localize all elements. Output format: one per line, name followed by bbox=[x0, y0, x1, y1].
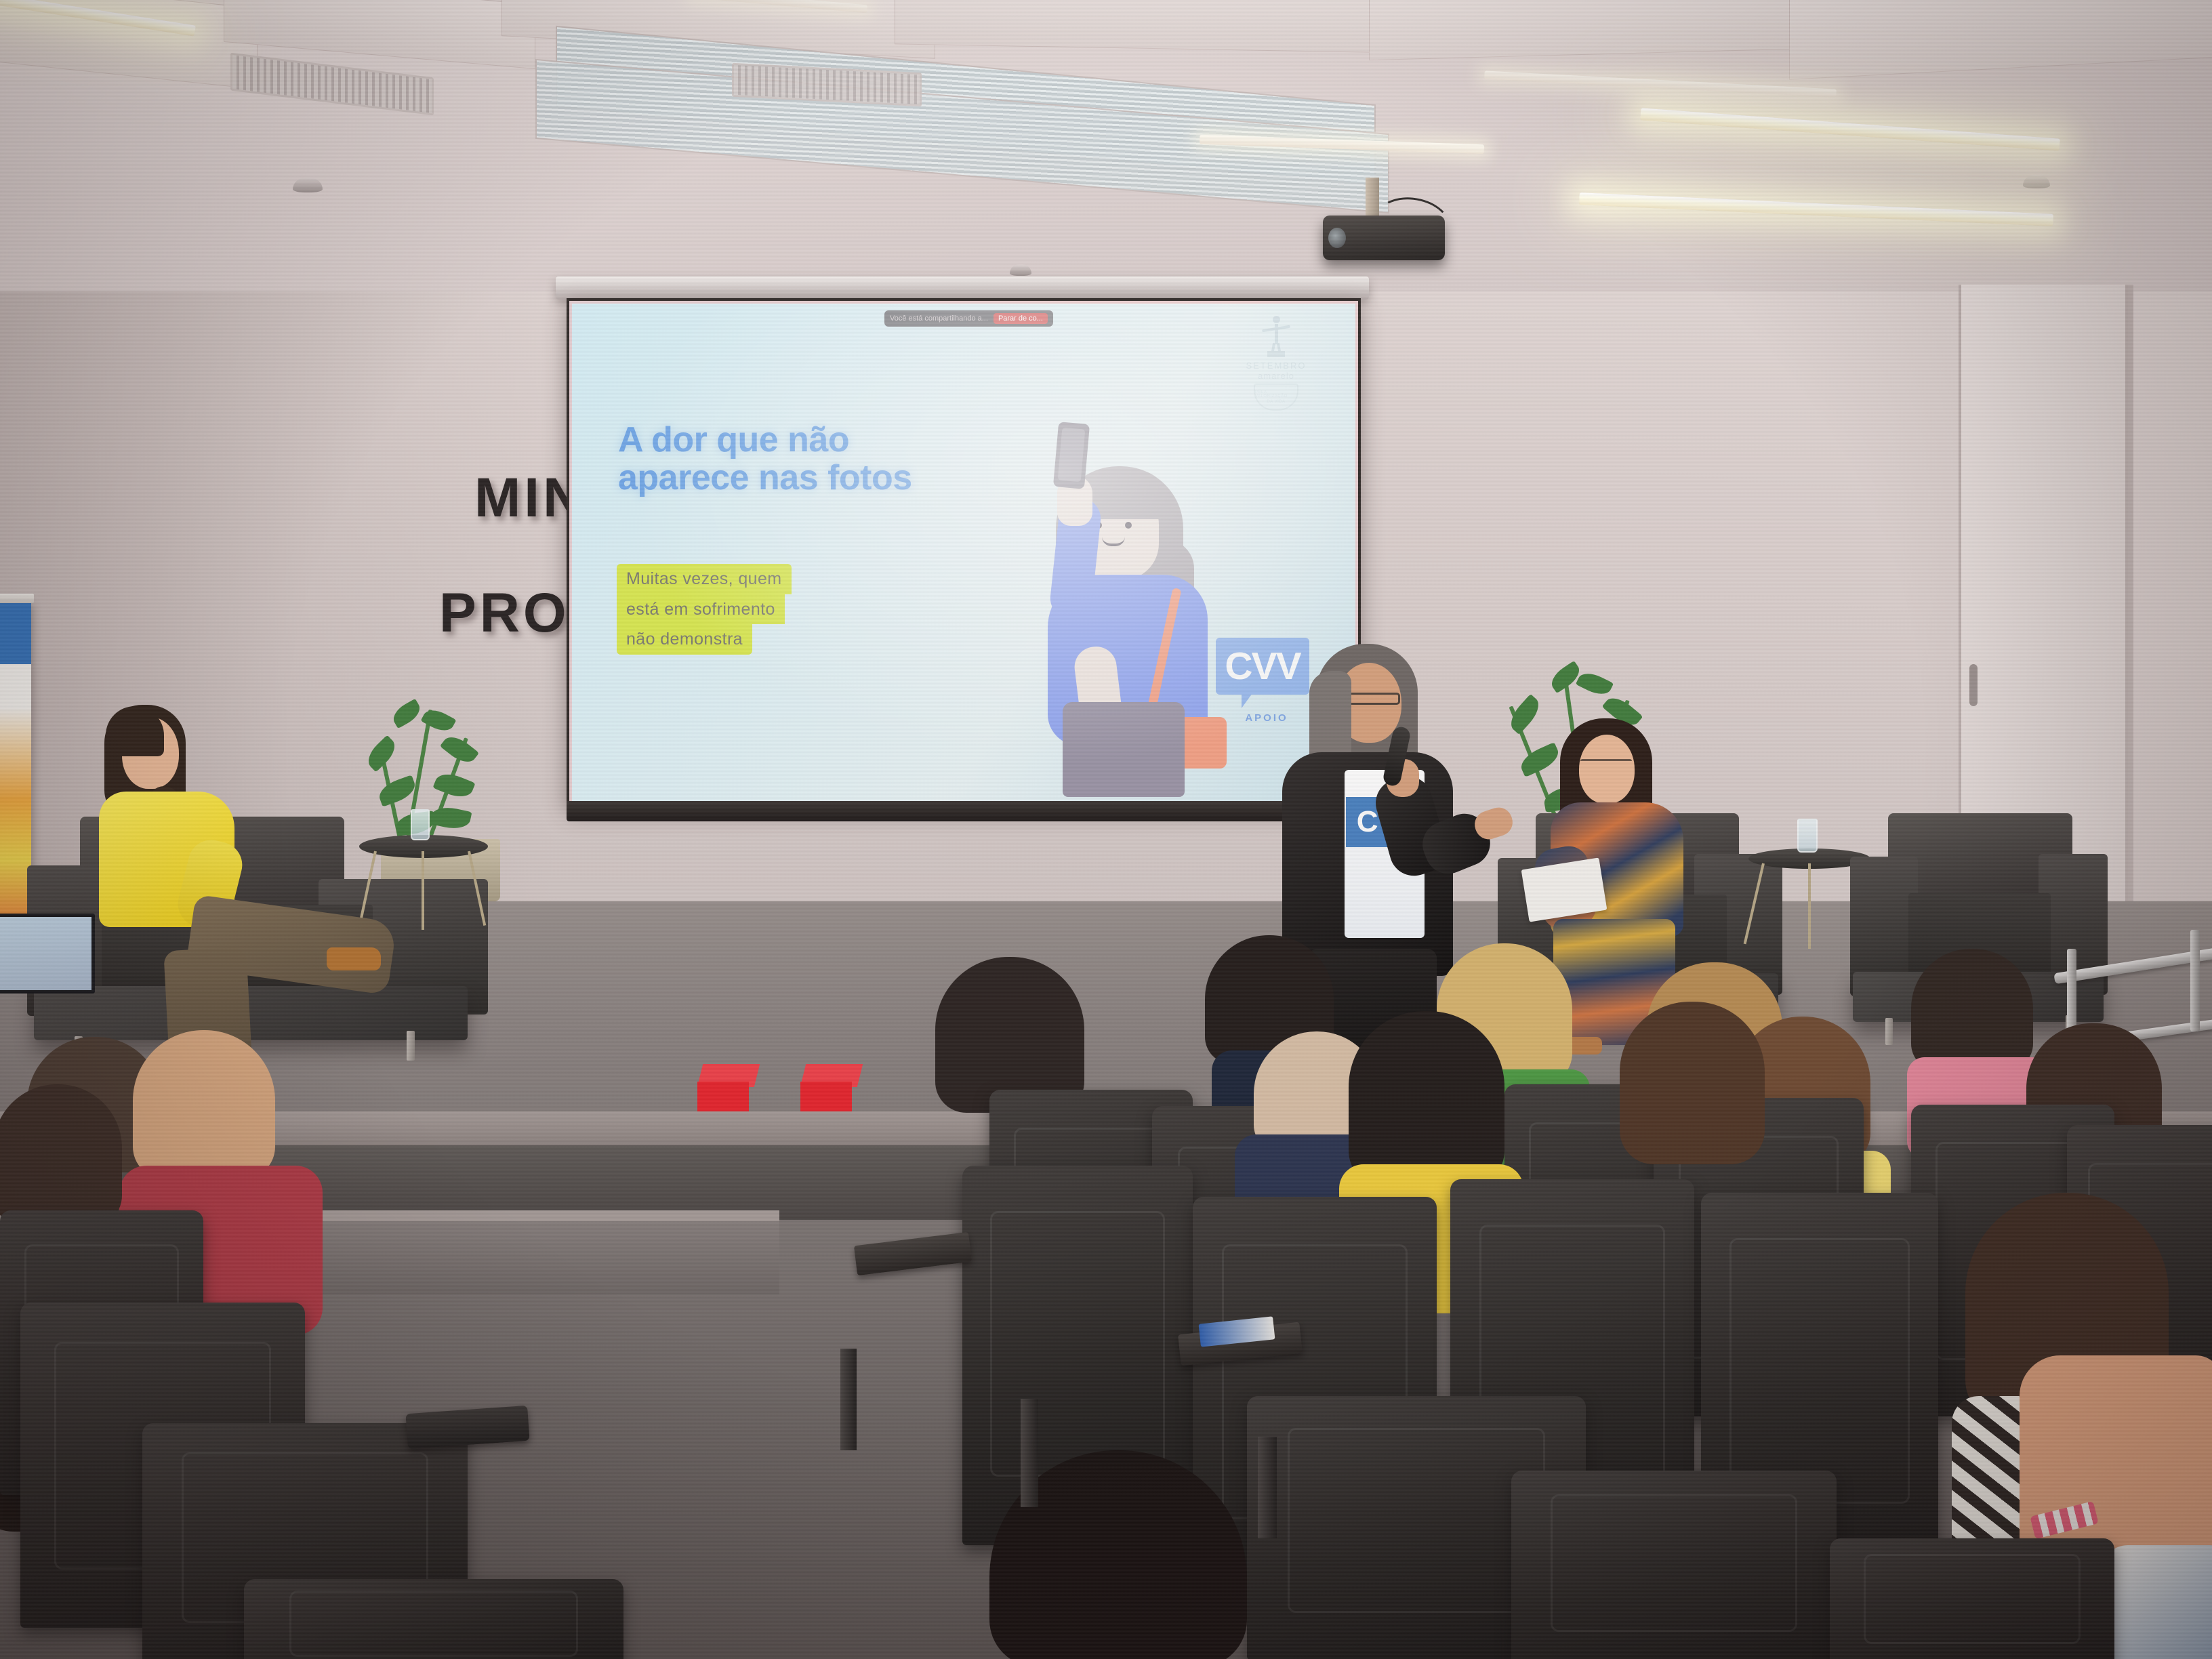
handrail-post bbox=[2190, 930, 2200, 1031]
rollup-banner-cap bbox=[0, 594, 34, 603]
seat-post bbox=[1021, 1399, 1038, 1507]
panelist-right-head bbox=[1579, 735, 1635, 804]
panelist-right-glasses bbox=[1580, 759, 1632, 769]
audience-member bbox=[1620, 1002, 1765, 1164]
rollup-banner-header bbox=[0, 602, 31, 664]
photo-scene: MIN PROC Você está compartilhando a... P… bbox=[0, 0, 2212, 1659]
auditorium-seat[interactable] bbox=[1511, 1471, 1837, 1659]
audience-member bbox=[133, 1030, 275, 1179]
screen-housing bbox=[556, 276, 1369, 300]
smoke-detector bbox=[293, 178, 323, 192]
air-vent bbox=[230, 53, 434, 116]
audience-member bbox=[1349, 1011, 1504, 1187]
smoke-detector bbox=[2023, 175, 2050, 188]
audience-member bbox=[1911, 949, 2033, 1071]
auditorium-seat[interactable] bbox=[244, 1579, 623, 1659]
confidence-monitor bbox=[0, 914, 95, 994]
projection-screen: Você está compartilhando a... Parar de c… bbox=[567, 298, 1361, 806]
ceiling-light bbox=[1640, 108, 2060, 150]
ceiling bbox=[0, 0, 2212, 319]
seat-post bbox=[1258, 1437, 1277, 1538]
smoke-detector bbox=[1010, 264, 1031, 276]
screen-bottom-bar bbox=[567, 801, 1361, 821]
seat-post bbox=[840, 1349, 857, 1450]
door-handle[interactable] bbox=[1969, 664, 1978, 706]
projector-lens bbox=[1328, 228, 1346, 248]
ceiling-light bbox=[1579, 192, 2053, 226]
slide-edge-glow bbox=[569, 301, 1358, 804]
water-glass bbox=[1797, 819, 1818, 853]
audience-member bbox=[0, 1084, 122, 1227]
monitor-screen bbox=[0, 917, 91, 990]
panelist-left-shoe bbox=[327, 947, 381, 970]
auditorium-seat[interactable] bbox=[1830, 1538, 2114, 1659]
ceiling-light bbox=[1484, 70, 1837, 97]
slide: Você está compartilhando a... Parar de c… bbox=[569, 301, 1358, 804]
